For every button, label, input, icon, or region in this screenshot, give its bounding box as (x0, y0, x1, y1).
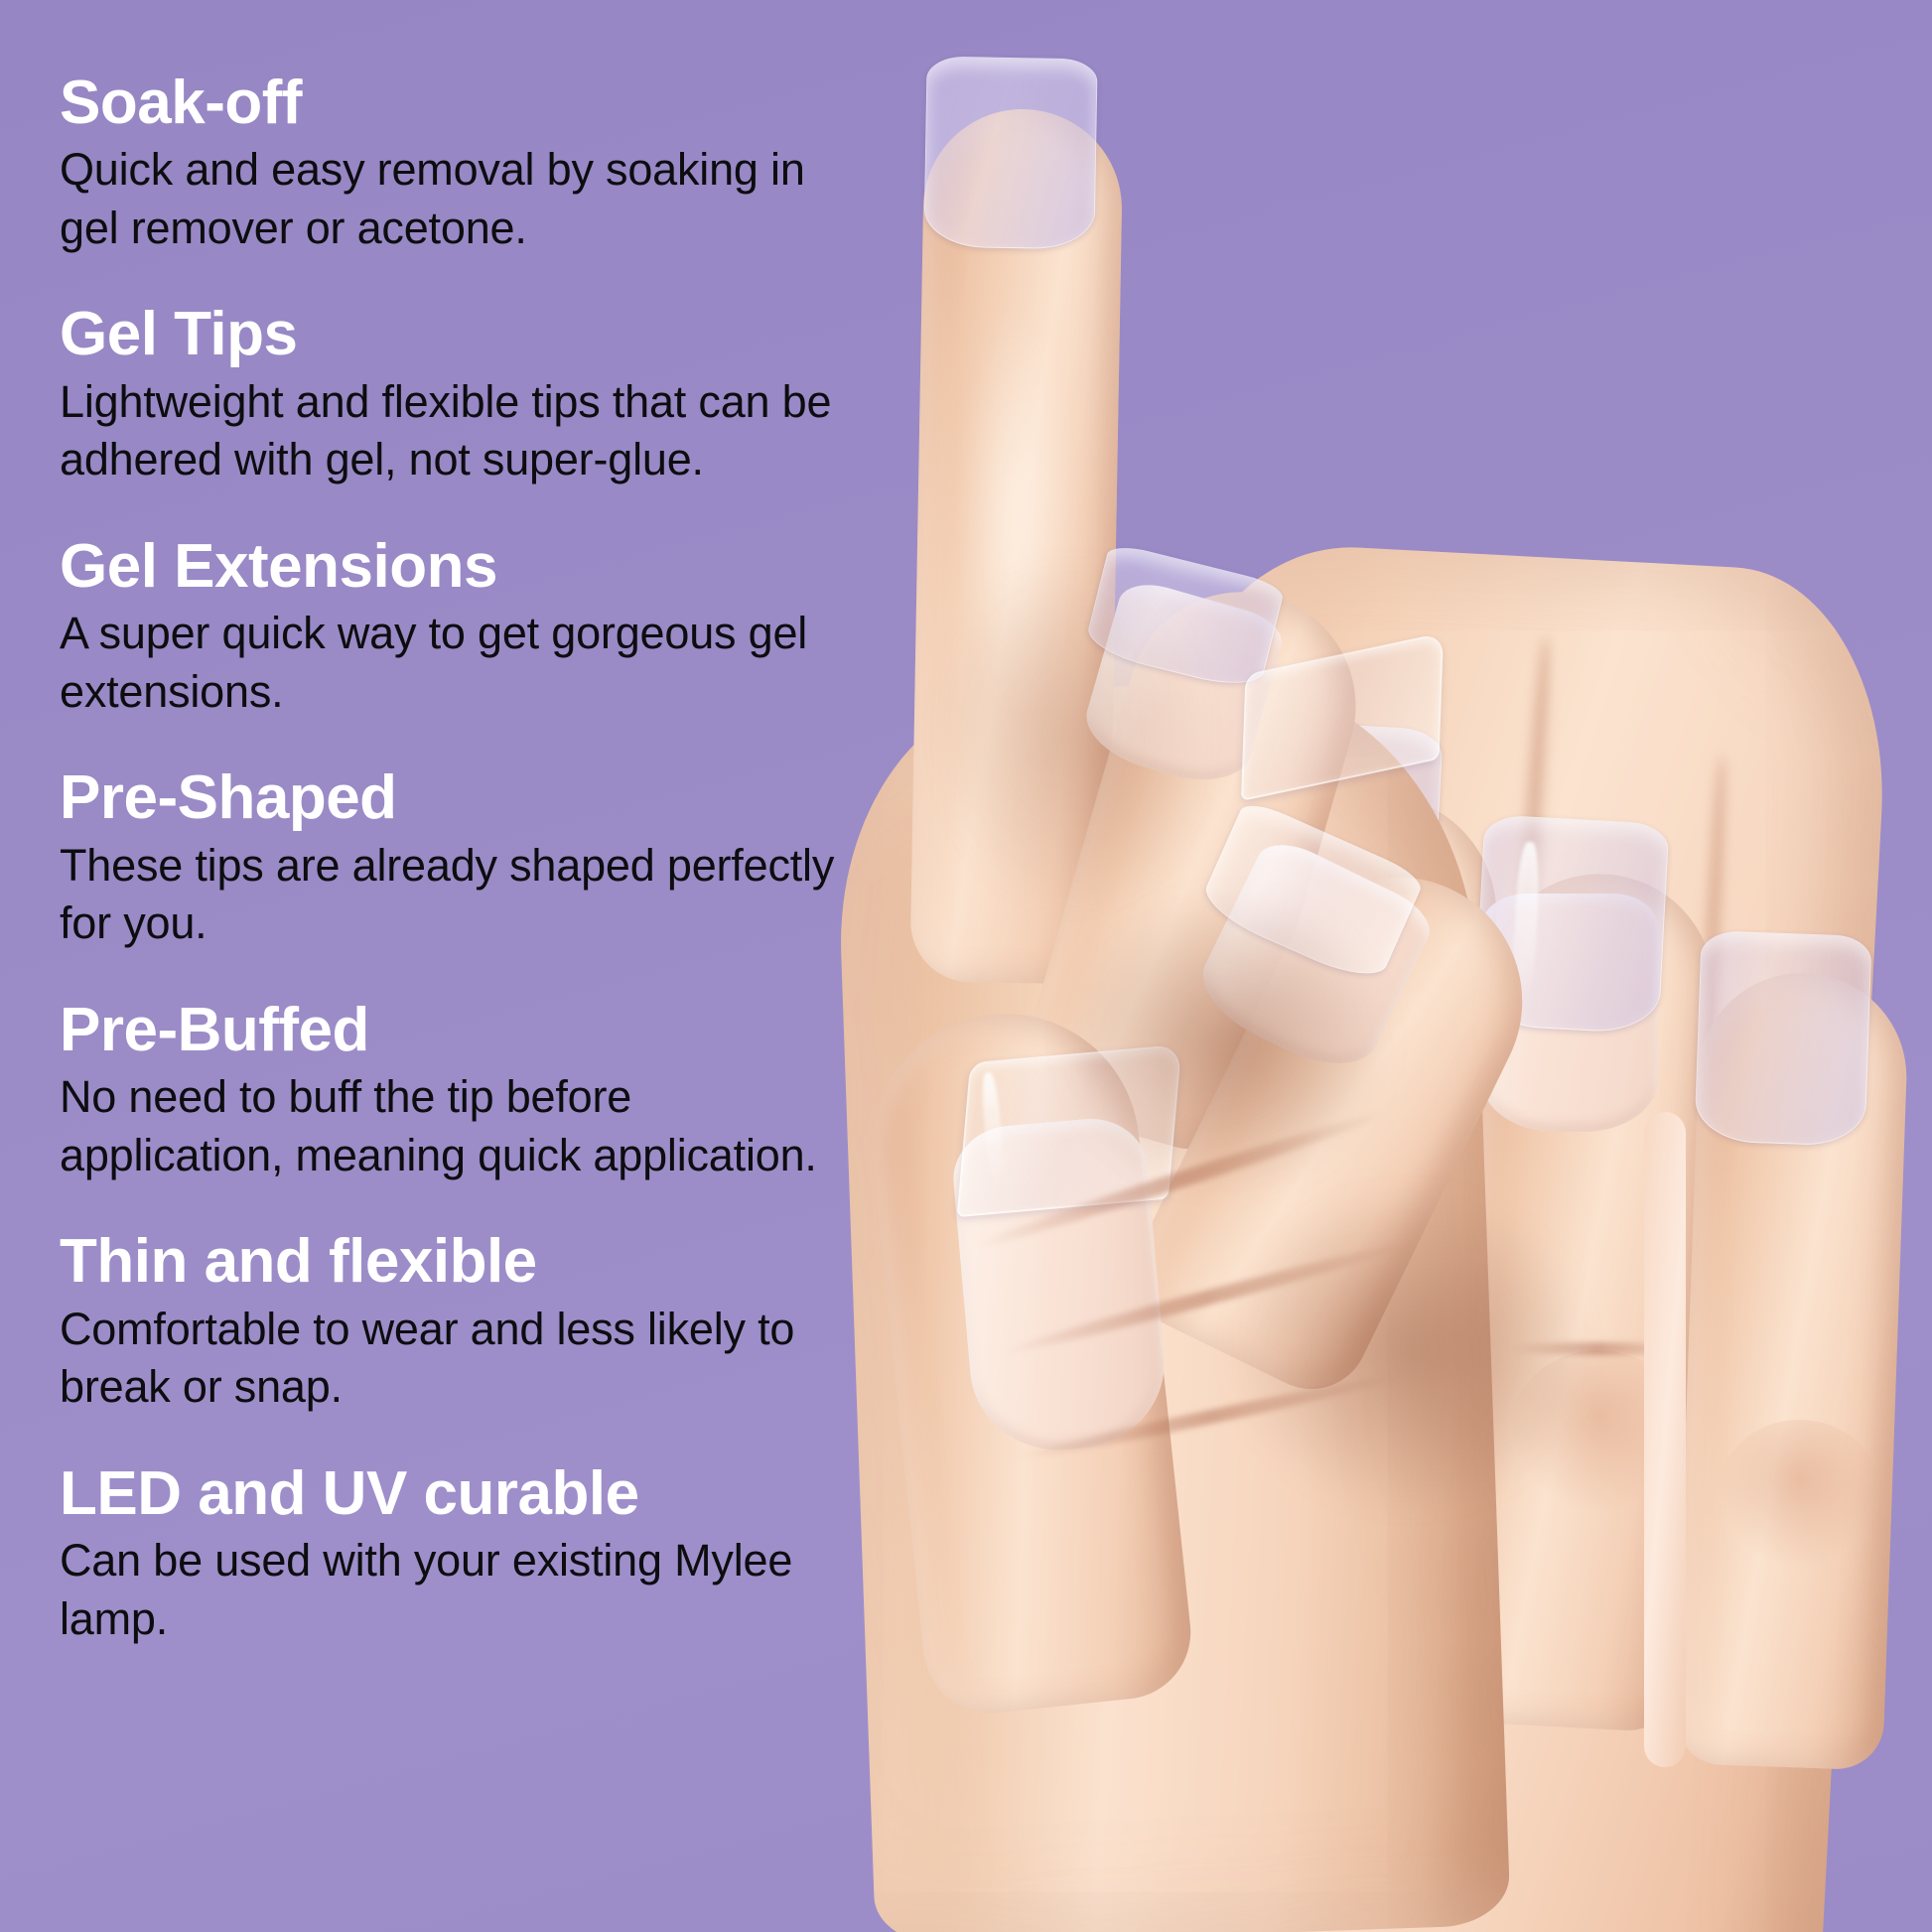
contact-shadow (933, 556, 1211, 913)
feature-description: Lightweight and flexible tips that can b… (60, 373, 854, 489)
contact-shadow (1062, 894, 1390, 1191)
feature-title: Gel Extensions (60, 535, 894, 599)
feature-description: Comfortable to wear and less likely to b… (60, 1301, 854, 1417)
feature-list: Soak-off Quick and easy removal by soaki… (0, 0, 894, 1932)
contact-shadow (1231, 1191, 1588, 1509)
feature-description: No need to buff the tip before applicati… (60, 1068, 854, 1184)
feature-title: Thin and flexible (60, 1230, 894, 1294)
feature-description: These tips are already shaped perfectly … (60, 837, 854, 953)
hands-product-photo (814, 0, 1932, 1932)
feature-item: LED and UV curable Can be used with your… (60, 1462, 894, 1648)
feature-item: Soak-off Quick and easy removal by soaki… (60, 71, 894, 257)
feature-description: Quick and easy removal by soaking in gel… (60, 141, 854, 257)
feature-description: A super quick way to get gorgeous gel ex… (60, 605, 854, 721)
promo-graphic: Soak-off Quick and easy removal by soaki… (0, 0, 1932, 1932)
feature-item: Pre-Buffed No need to buff the tip befor… (60, 999, 894, 1184)
feature-description: Can be used with your existing Mylee lam… (60, 1532, 854, 1648)
feature-title: Pre-Shaped (60, 766, 894, 830)
clear-nail-tip (923, 57, 1097, 250)
feature-title: LED and UV curable (60, 1462, 894, 1526)
feature-item: Pre-Shaped These tips are already shaped… (60, 766, 894, 952)
clear-nail-tip (1694, 930, 1871, 1147)
feature-item: Thin and flexible Comfortable to wear an… (60, 1230, 894, 1416)
feature-title: Pre-Buffed (60, 999, 894, 1062)
feature-title: Soak-off (60, 71, 894, 135)
feature-title: Gel Tips (60, 303, 894, 366)
finger-sidewall (1644, 1112, 1686, 1767)
feature-item: Gel Tips Lightweight and flexible tips t… (60, 303, 894, 488)
feature-item: Gel Extensions A super quick way to get … (60, 535, 894, 721)
knuckle-shading (1718, 1420, 1881, 1569)
